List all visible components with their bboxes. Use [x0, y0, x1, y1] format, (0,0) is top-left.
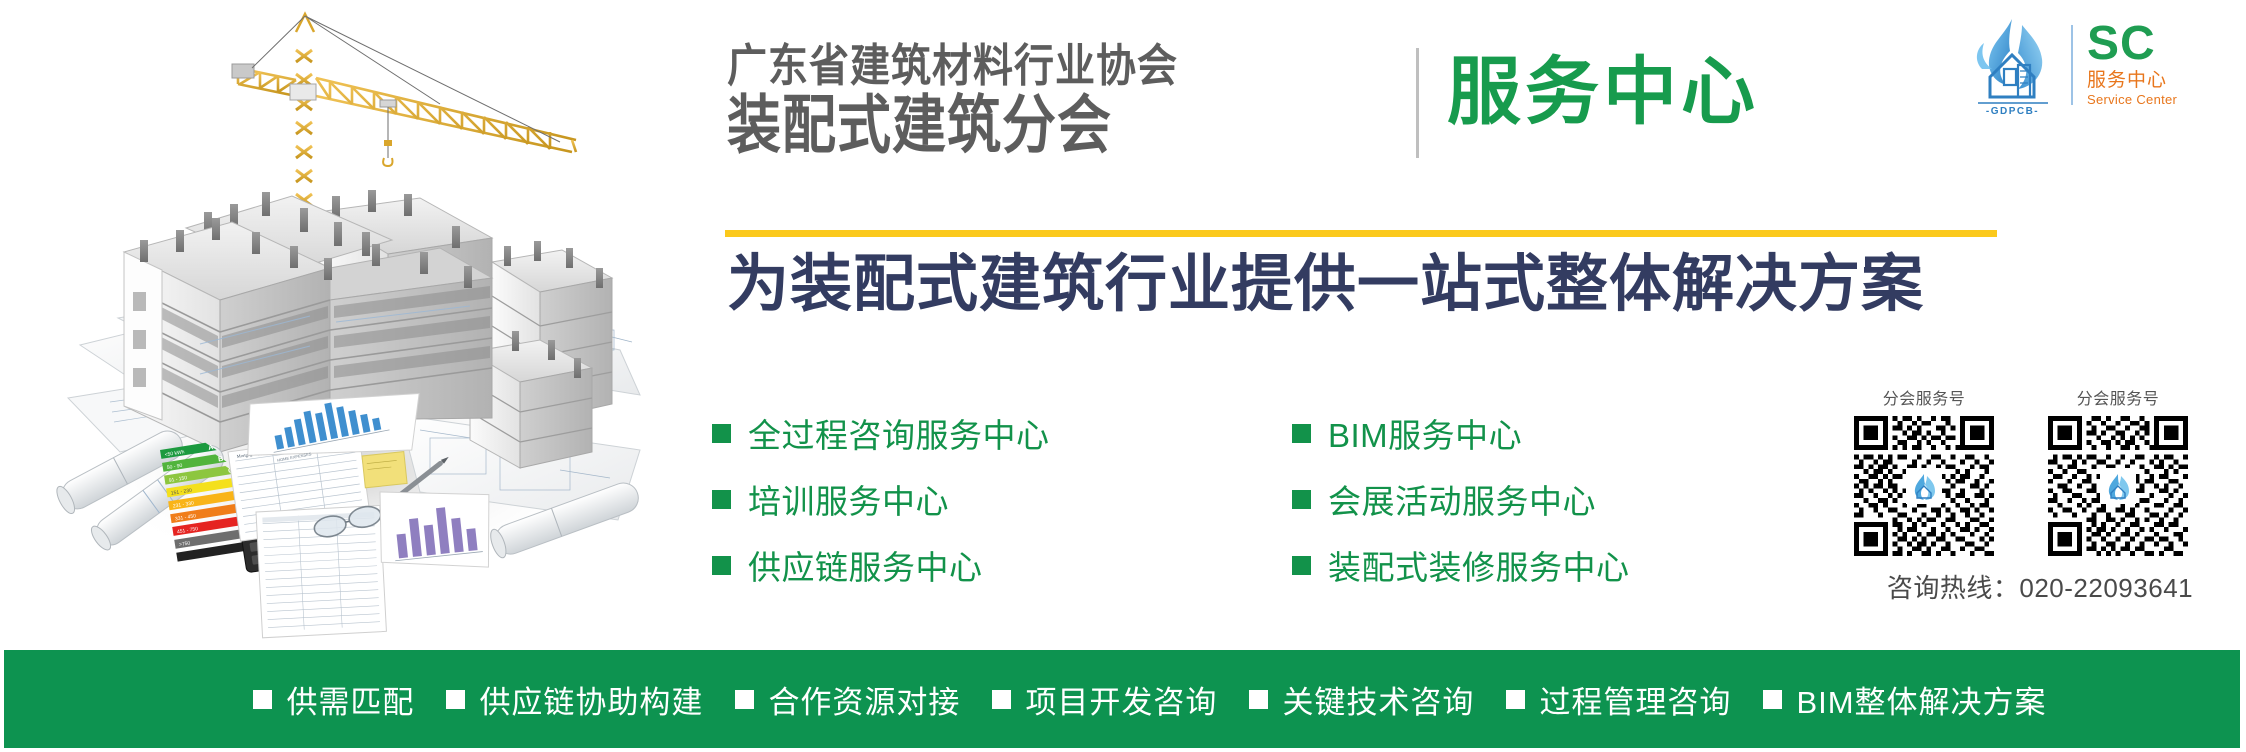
service-item-label: BIM服务中心	[1328, 409, 1522, 457]
hero-illustration: A B C D E F G H I <50 kWh50 - 90 91 - 15…	[0, 0, 680, 645]
qr-contact-block: 分会服务号	[1845, 385, 2235, 605]
logo-divider	[2071, 25, 2073, 105]
bottom-bar-items: 供需匹配 供应链协助构建 合作资源对接 项目开发咨询 关键技术咨询 过程管理咨询	[197, 677, 2046, 722]
qr-caption: 分会服务号	[2077, 385, 2160, 409]
service-item-label: 装配式装修服务中心	[1328, 541, 1630, 589]
service-item-exhibition[interactable]: 会展活动服务中心	[1292, 466, 1822, 532]
title-separator	[1416, 48, 1419, 158]
square-bullet-icon	[1763, 690, 1782, 709]
association-name-line2: 装配式建筑分会	[727, 94, 1387, 158]
svg-text:A: A	[208, 444, 214, 452]
logo-cn-label: 服务中心	[2087, 69, 2230, 93]
slogan-text: 为装配式建筑行业提供一站式整体解决方案	[727, 250, 1924, 319]
bottom-item-key-technology-consulting[interactable]: 关键技术咨询	[1249, 677, 1474, 722]
square-bullet-icon	[712, 556, 731, 575]
square-bullet-icon	[253, 690, 272, 709]
house-flame-icon-small	[2103, 471, 2133, 501]
service-item-label: 供应链服务中心	[748, 541, 983, 589]
association-title: 广东省建筑材料行业协会 装配式建筑分会	[727, 44, 1387, 148]
bottom-item-partner-resource-matching[interactable]: 合作资源对接	[735, 677, 960, 722]
tower-crane	[232, 14, 576, 210]
service-center-heading: 服务中心	[1447, 52, 1759, 132]
logo-gdpcb-caption: -GDPCB-	[1960, 106, 2065, 117]
service-center-banner: A B C D E F G H I <50 kWh50 - 90 91 - 15…	[0, 0, 2246, 752]
bottom-item-label: 关键技术咨询	[1282, 677, 1474, 722]
qr-cell-2: 分会服务号	[2039, 385, 2197, 556]
qr-center-logo	[1906, 468, 1942, 504]
qr-cell-1: 分会服务号	[1845, 385, 2003, 556]
logo-sc-abbr: SC	[2087, 21, 2230, 67]
service-column-left: 全过程咨询服务中心 培训服务中心 供应链服务中心	[712, 400, 1292, 598]
service-item-supply-chain[interactable]: 供应链服务中心	[712, 532, 1292, 598]
sticky-note	[362, 452, 407, 488]
square-bullet-icon	[735, 690, 754, 709]
service-column-right: BIM服务中心 会展活动服务中心 装配式装修服务中心	[1292, 400, 1822, 598]
bottom-item-project-development-consulting[interactable]: 项目开发咨询	[992, 677, 1217, 722]
service-item-label: 会展活动服务中心	[1328, 475, 1596, 523]
bottom-item-supply-chain-build[interactable]: 供应链协助构建	[446, 677, 703, 722]
bottom-item-label: 合作资源对接	[768, 677, 960, 722]
logo-text-group: SC 服务中心 Service Center	[2087, 21, 2230, 108]
service-item-label: 全过程咨询服务中心	[748, 409, 1050, 457]
association-name-line1: 广东省建筑材料行业协会	[727, 44, 1387, 89]
gold-divider-rule	[725, 230, 1997, 237]
bottom-item-label: BIM整体解决方案	[1796, 677, 2046, 722]
service-center-list: 全过程咨询服务中心 培训服务中心 供应链服务中心 BIM服务中心 会展活动服务中…	[712, 400, 1822, 598]
bottom-item-label: 供需匹配	[286, 677, 414, 722]
gdpcb-sc-logo: -GDPCB- SC 服务中心 Service Center	[1960, 12, 2230, 117]
bottom-item-label: 供应链协助构建	[479, 677, 703, 722]
square-bullet-icon	[992, 690, 1011, 709]
qr-code-row: 分会服务号	[1845, 385, 2235, 556]
service-item-full-process-consulting[interactable]: 全过程咨询服务中心	[712, 400, 1292, 466]
service-item-training[interactable]: 培训服务中心	[712, 466, 1292, 532]
logo-en-label: Service Center	[2087, 92, 2230, 108]
service-item-bim[interactable]: BIM服务中心	[1292, 400, 1822, 466]
square-bullet-icon	[1249, 690, 1268, 709]
bottom-item-label: 项目开发咨询	[1025, 677, 1217, 722]
qr-center-logo	[2100, 468, 2136, 504]
square-bullet-icon	[712, 490, 731, 509]
square-bullet-icon	[712, 424, 731, 443]
svg-text:B: B	[218, 456, 224, 464]
square-bullet-icon	[1506, 690, 1525, 709]
construction-site-3d-render: A B C D E F G H I <50 kWh50 - 90 91 - 15…	[0, 0, 680, 645]
bottom-capability-bar: 供需匹配 供应链协助构建 合作资源对接 项目开发咨询 关键技术咨询 过程管理咨询	[4, 650, 2240, 748]
bottom-item-label: 过程管理咨询	[1539, 677, 1731, 722]
qr-code-image-1[interactable]	[1854, 416, 1994, 556]
gdpcb-house-flame-logo: -GDPCB-	[1960, 15, 2065, 115]
square-bullet-icon	[446, 690, 465, 709]
square-bullet-icon	[1292, 490, 1311, 509]
square-bullet-icon	[1292, 424, 1311, 443]
square-bullet-icon	[1292, 556, 1311, 575]
bottom-item-supply-demand-matching[interactable]: 供需匹配	[253, 677, 414, 722]
bottom-item-bim-total-solution[interactable]: BIM整体解决方案	[1763, 677, 2046, 722]
service-item-label: 培训服务中心	[748, 475, 949, 523]
qr-code-image-2[interactable]	[2048, 416, 2188, 556]
service-item-prefab-decoration[interactable]: 装配式装修服务中心	[1292, 532, 1822, 598]
bottom-item-process-management-consulting[interactable]: 过程管理咨询	[1506, 677, 1731, 722]
hotline-text: 咨询热线：020-22093641	[1845, 568, 2235, 605]
house-flame-icon	[1960, 15, 2065, 107]
house-flame-icon-small	[1909, 471, 1939, 501]
qr-caption: 分会服务号	[1883, 385, 1966, 409]
